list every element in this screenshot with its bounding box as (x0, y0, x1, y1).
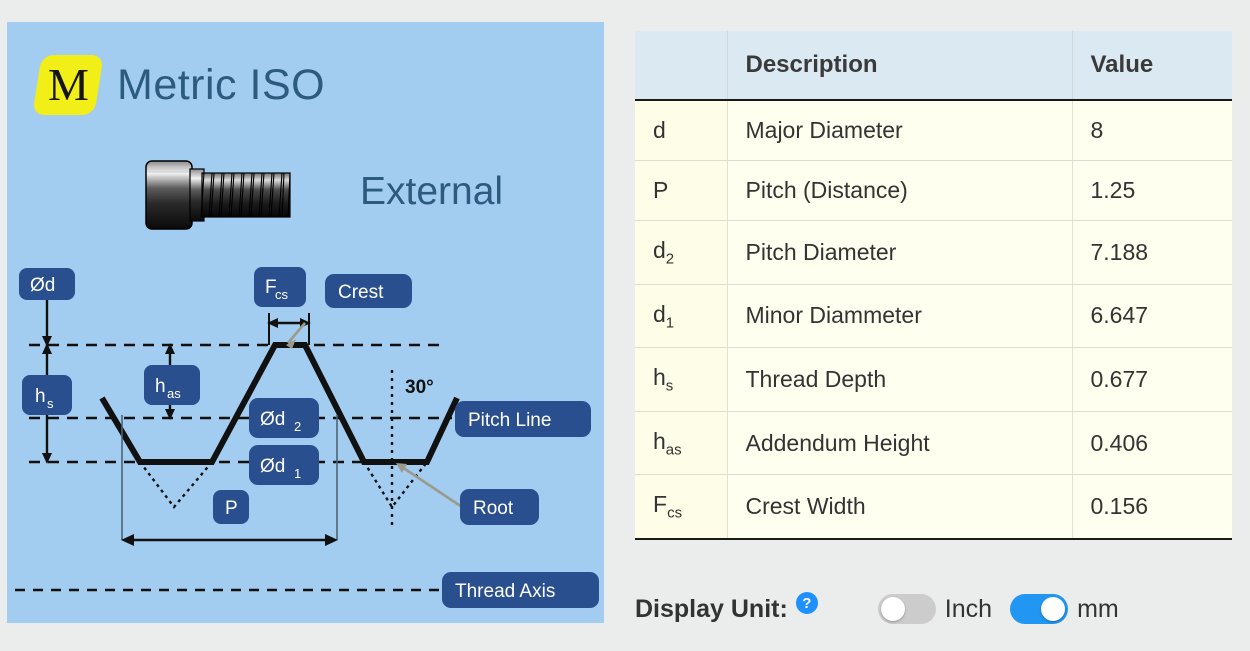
table-row: dMajor Diameter8 (635, 100, 1232, 161)
tag-crest-text: Crest (338, 282, 384, 303)
tag-addendum-height-text: h (155, 376, 166, 397)
cell-value: 7.188 (1072, 221, 1232, 285)
tag-major-diameter-text: Ød (30, 275, 55, 296)
tag-addendum-height-sub: as (167, 386, 181, 401)
cell-symbol: has (635, 411, 727, 475)
table-row: hsThread Depth0.677 (635, 348, 1232, 412)
tag-crest-width-sub: cs (275, 287, 289, 302)
column-header-description: Description (727, 31, 1072, 100)
root-v-left (140, 462, 212, 507)
root-v-right (364, 462, 427, 507)
toggle-inch[interactable] (878, 594, 936, 624)
thread-type-label: External (360, 170, 503, 214)
cell-value: 0.406 (1072, 411, 1232, 475)
cell-symbol: P (635, 161, 727, 221)
toggle-mm-label: mm (1077, 595, 1119, 624)
tag-pitch-line-text: Pitch Line (468, 410, 551, 431)
toggle-mm-knob (1041, 597, 1065, 621)
cell-description: Minor Diammeter (727, 284, 1072, 348)
toggle-inch-knob (881, 597, 905, 621)
tag-pitch-line: Pitch Line (455, 401, 591, 437)
tag-crest: Crest (325, 274, 412, 308)
thread-type-row: External (142, 155, 503, 235)
cell-description: Crest Width (727, 475, 1072, 539)
tag-thread-axis-text: Thread Axis (455, 581, 555, 602)
tag-pitch: P (213, 490, 249, 524)
cell-description: Major Diameter (727, 100, 1072, 161)
unit-option-mm[interactable]: mm (1010, 594, 1137, 624)
bolt-icon (142, 155, 342, 235)
table-row: hasAddendum Height0.406 (635, 411, 1232, 475)
cell-description: Pitch Diameter (727, 221, 1072, 285)
tag-root-text: Root (473, 498, 514, 519)
tag-thread-axis: Thread Axis (442, 572, 599, 608)
standard-header: M Metric ISO (37, 55, 325, 115)
tag-thread-depth-text: h (35, 386, 46, 407)
help-question-icon[interactable]: ? (796, 592, 818, 614)
cell-value: 0.677 (1072, 348, 1232, 412)
cell-value: 1.25 (1072, 161, 1232, 221)
thread-spec-table: Description Value dMajor Diameter8PPitch… (635, 31, 1232, 540)
metric-badge-letter: M (48, 62, 89, 108)
thread-profile-drawing: 30° Ød h s h as F cs Crest (7, 265, 604, 623)
tag-minor-diameter-sub: 1 (294, 466, 301, 481)
table-row: d1Minor Diammeter6.647 (635, 284, 1232, 348)
table-row: FcsCrest Width0.156 (635, 475, 1232, 539)
column-header-value: Value (1072, 31, 1232, 100)
toggle-inch-label: Inch (945, 595, 992, 624)
cell-description: Thread Depth (727, 348, 1072, 412)
tag-pitch-diameter: Ød 2 (249, 398, 319, 438)
cell-description: Pitch (Distance) (727, 161, 1072, 221)
thread-diagram-panel: M Metric ISO (7, 22, 604, 623)
display-unit-label: Display Unit: (635, 595, 788, 624)
crest-leader (288, 323, 305, 343)
tag-major-diameter: Ød (19, 268, 75, 300)
tag-pitch-diameter-sub: 2 (294, 419, 301, 434)
cell-description: Addendum Height (727, 411, 1072, 475)
tag-pitch-text: P (225, 498, 238, 519)
tag-thread-depth: h s (22, 375, 72, 415)
unit-option-inch[interactable]: Inch (878, 594, 1010, 624)
table-row: d2Pitch Diameter7.188 (635, 221, 1232, 285)
tag-minor-diameter: Ød 1 (249, 445, 319, 485)
standard-title: Metric ISO (117, 61, 325, 110)
table-row: PPitch (Distance)1.25 (635, 161, 1232, 221)
table-header-row: Description Value (635, 31, 1232, 100)
cell-symbol: d2 (635, 221, 727, 285)
cell-value: 6.647 (1072, 284, 1232, 348)
tag-thread-depth-sub: s (47, 396, 54, 411)
flank-angle-label: 30° (405, 377, 434, 398)
tag-addendum-height: h as (144, 365, 200, 405)
tag-root: Root (460, 489, 539, 525)
cell-value: 0.156 (1072, 475, 1232, 539)
display-unit-row: Display Unit: ? Inch mm (635, 592, 1137, 626)
toggle-mm[interactable] (1010, 594, 1068, 624)
column-header-symbol (635, 31, 727, 100)
cell-symbol: d (635, 100, 727, 161)
cell-symbol: d1 (635, 284, 727, 348)
cell-symbol: hs (635, 348, 727, 412)
tag-crest-width: F cs (254, 267, 306, 307)
tag-minor-diameter-text: Ød (260, 456, 285, 477)
metric-badge-icon: M (32, 55, 104, 115)
cell-value: 8 (1072, 100, 1232, 161)
cell-symbol: Fcs (635, 475, 727, 539)
tag-pitch-diameter-text: Ød (260, 409, 285, 430)
